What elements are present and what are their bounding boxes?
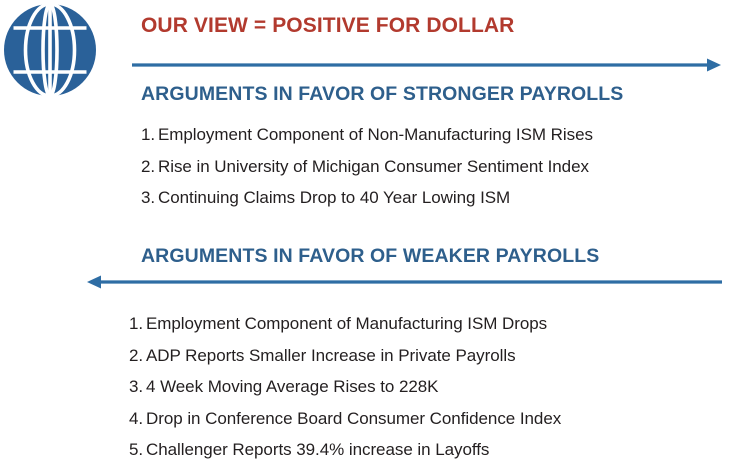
list-item-label: Employment Component of Manufacturing IS… xyxy=(146,314,547,333)
list-item-number: 1. xyxy=(141,119,158,151)
arrow-left-icon xyxy=(85,271,723,293)
argument-list-weaker: 1.Employment Component of Manufacturing … xyxy=(129,308,561,466)
argument-list-stronger: 1.Employment Component of Non-Manufactur… xyxy=(141,119,593,214)
list-item-number: 3. xyxy=(129,371,146,403)
globe-icon xyxy=(2,2,98,98)
list-item-number: 3. xyxy=(141,182,158,214)
list-item: 3.Continuing Claims Drop to 40 Year Lowi… xyxy=(141,182,593,214)
list-item-label: 4 Week Moving Average Rises to 228K xyxy=(146,377,438,396)
list-item-number: 1. xyxy=(129,308,146,340)
list-item-label: ADP Reports Smaller Increase in Private … xyxy=(146,346,516,365)
slide-canvas: OUR VIEW = POSITIVE FOR DOLLAR ARGUMENTS… xyxy=(0,0,740,463)
list-item: 4.Drop in Conference Board Consumer Conf… xyxy=(129,403,561,435)
list-item: 2.Rise in University of Michigan Consume… xyxy=(141,151,593,183)
list-item-label: Challenger Reports 39.4% increase in Lay… xyxy=(146,440,489,459)
list-item-number: 4. xyxy=(129,403,146,435)
section-header-stronger: ARGUMENTS IN FAVOR OF STRONGER PAYROLLS xyxy=(141,84,623,105)
list-item-label: Rise in University of Michigan Consumer … xyxy=(158,157,589,176)
list-item: 2.ADP Reports Smaller Increase in Privat… xyxy=(129,340,561,372)
list-item-label: Drop in Conference Board Consumer Confid… xyxy=(146,409,561,428)
list-item: 5.Challenger Reports 39.4% increase in L… xyxy=(129,434,561,466)
list-item-number: 2. xyxy=(141,151,158,183)
list-item: 1.Employment Component of Non-Manufactur… xyxy=(141,119,593,151)
list-item-label: Employment Component of Non-Manufacturin… xyxy=(158,125,593,144)
list-item-label: Continuing Claims Drop to 40 Year Lowing… xyxy=(158,188,510,207)
list-item: 3.4 Week Moving Average Rises to 228K xyxy=(129,371,561,403)
page-title: OUR VIEW = POSITIVE FOR DOLLAR xyxy=(141,14,514,37)
list-item: 1.Employment Component of Manufacturing … xyxy=(129,308,561,340)
list-item-number: 5. xyxy=(129,434,146,466)
section-header-weaker: ARGUMENTS IN FAVOR OF WEAKER PAYROLLS xyxy=(141,246,599,267)
list-item-number: 2. xyxy=(129,340,146,372)
arrow-right-icon xyxy=(131,54,723,76)
